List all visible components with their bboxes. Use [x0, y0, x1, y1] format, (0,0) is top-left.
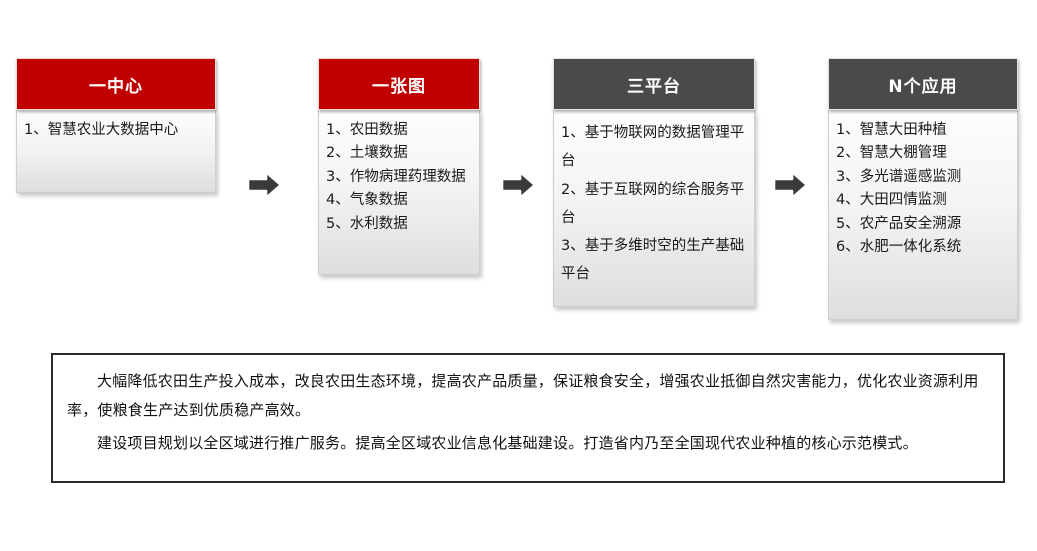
summary-paragraph-2: 建设项目规划以全区域进行推广服务。提高全区域农业信息化基础建设。打造省内乃至全国…: [67, 429, 989, 458]
column-item-list: 1、农田数据 2、土壤数据 3、作物病理药理数据 4、气象数据 5、水利数据: [326, 119, 473, 235]
summary-paragraph-1: 大幅降低农田生产投入成本，改良农田生态环境，提高农产品质量，保证粮食安全，增强农…: [67, 367, 989, 426]
column-header-n-applications: N个应用: [828, 58, 1018, 110]
list-item: 3、多光谱遥感监测: [836, 166, 1011, 188]
right-arrow-icon: [246, 168, 286, 202]
list-item: 1、智慧大田种植: [836, 119, 1011, 141]
column-item-list: 1、基于物联网的数据管理平台 2、基于互联网的综合服务平台 3、基于多维时空的生…: [561, 119, 748, 289]
column-n-applications: N个应用 1、智慧大田种植 2、智慧大棚管理 3、多光谱遥感监测 4、大田四情监…: [828, 58, 1018, 320]
right-arrow-icon: [772, 168, 812, 202]
column-header-one-map: 一张图: [318, 58, 480, 110]
list-item: 2、基于互联网的综合服务平台: [561, 176, 748, 233]
list-item: 2、智慧大棚管理: [836, 142, 1011, 164]
column-header-one-center: 一中心: [16, 58, 216, 110]
list-item: 3、作物病理药理数据: [326, 166, 473, 188]
summary-note-box: 大幅降低农田生产投入成本，改良农田生态环境，提高农产品质量，保证粮食安全，增强农…: [51, 353, 1005, 483]
column-body-n-applications: 1、智慧大田种植 2、智慧大棚管理 3、多光谱遥感监测 4、大田四情监测 5、农…: [828, 110, 1018, 320]
column-header-label: N个应用: [888, 72, 957, 97]
list-item: 5、农产品安全溯源: [836, 213, 1011, 235]
column-three-platforms: 三平台 1、基于物联网的数据管理平台 2、基于互联网的综合服务平台 3、基于多维…: [553, 58, 755, 307]
column-header-label: 一中心: [89, 72, 143, 97]
column-one-map: 一张图 1、农田数据 2、土壤数据 3、作物病理药理数据 4、气象数据 5、水利…: [318, 58, 480, 275]
list-item: 1、智慧农业大数据中心: [24, 119, 209, 141]
list-item: 4、气象数据: [326, 189, 473, 211]
column-item-list: 1、智慧农业大数据中心: [24, 119, 209, 141]
column-header-label: 一张图: [372, 72, 426, 97]
column-item-list: 1、智慧大田种植 2、智慧大棚管理 3、多光谱遥感监测 4、大田四情监测 5、农…: [836, 119, 1011, 259]
list-item: 6、水肥一体化系统: [836, 236, 1011, 258]
list-item: 5、水利数据: [326, 213, 473, 235]
column-header-three-platforms: 三平台: [553, 58, 755, 110]
column-one-center: 一中心 1、智慧农业大数据中心: [16, 58, 216, 193]
column-body-one-center: 1、智慧农业大数据中心: [16, 110, 216, 193]
column-header-label: 三平台: [627, 72, 681, 97]
list-item: 4、大田四情监测: [836, 189, 1011, 211]
list-item: 3、基于多维时空的生产基础平台: [561, 232, 748, 289]
column-body-three-platforms: 1、基于物联网的数据管理平台 2、基于互联网的综合服务平台 3、基于多维时空的生…: [553, 110, 755, 307]
column-body-one-map: 1、农田数据 2、土壤数据 3、作物病理药理数据 4、气象数据 5、水利数据: [318, 110, 480, 275]
list-item: 2、土壤数据: [326, 142, 473, 164]
list-item: 1、农田数据: [326, 119, 473, 141]
right-arrow-icon: [500, 168, 540, 202]
list-item: 1、基于物联网的数据管理平台: [561, 119, 748, 176]
